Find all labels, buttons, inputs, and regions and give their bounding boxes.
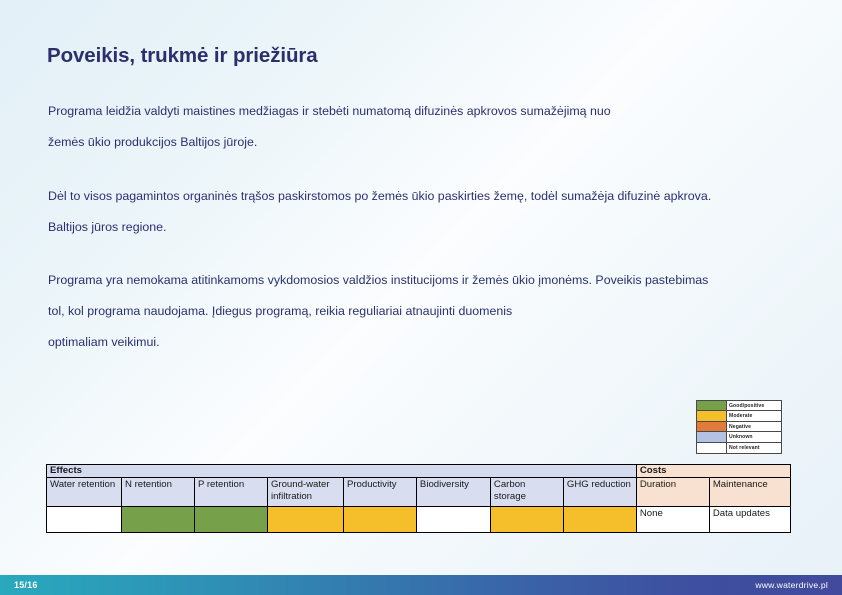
legend-label: Moderate xyxy=(727,411,781,420)
table-cell xyxy=(490,507,563,533)
paragraph-3-line-2: tol, kol programa naudojama. Įdiegus pro… xyxy=(48,296,818,327)
legend-swatch xyxy=(697,401,727,410)
paragraph-3: Programa yra nemokama atitinkamoms vykdo… xyxy=(48,265,818,358)
legend-label: Good/positive xyxy=(727,401,781,410)
legend-row: Good/positive xyxy=(697,401,781,411)
table-column-header: N retention xyxy=(122,478,195,507)
table-column-header: Duration xyxy=(636,478,709,507)
table-group-header: Costs xyxy=(636,465,790,478)
legend-swatch xyxy=(697,432,727,441)
table-cell xyxy=(47,507,122,533)
legend: Good/positiveModerateNegativeUnknownNot … xyxy=(696,400,782,454)
legend-row: Not relevant xyxy=(697,443,781,453)
slide-canvas: Poveikis, trukmė ir priežiūra Programa l… xyxy=(0,0,842,595)
effects-costs-table: EffectsCostsWater retentionN retentionP … xyxy=(46,464,791,533)
page-title: Poveikis, trukmė ir priežiūra xyxy=(47,44,318,68)
legend-label: Not relevant xyxy=(727,443,781,453)
paragraph-1: Programa leidžia valdyti maistines medži… xyxy=(48,96,818,158)
paragraph-2-line-1: Dėl to visos pagamintos organinės trąšos… xyxy=(48,181,818,212)
table-column-header: Productivity xyxy=(343,478,416,507)
page-number: 15/16 xyxy=(14,580,38,590)
table-cell xyxy=(343,507,416,533)
table-header-row: Water retentionN retentionP retentionGro… xyxy=(47,478,791,507)
table-cell xyxy=(122,507,195,533)
legend-swatch xyxy=(697,443,727,453)
table-column-header: Maintenance xyxy=(709,478,790,507)
legend-label: Negative xyxy=(727,422,781,431)
table-column-header: Carbon storage xyxy=(490,478,563,507)
table-group-header: Effects xyxy=(47,465,637,478)
table-cell xyxy=(267,507,343,533)
legend-swatch xyxy=(697,411,727,420)
paragraph-2: Dėl to visos pagamintos organinės trąšos… xyxy=(48,181,818,243)
paragraph-3-line-3: optimaliam veikimui. xyxy=(48,327,818,358)
table-row: NoneData updates xyxy=(47,507,791,533)
legend-row: Negative xyxy=(697,422,781,432)
legend-swatch xyxy=(697,422,727,431)
table-column-header: P retention xyxy=(194,478,267,507)
paragraph-1-line-2: žemės ūkio produkcijos Baltijos jūroje. xyxy=(48,127,818,158)
paragraph-2-line-2: Baltijos jūros regione. xyxy=(48,212,818,243)
paragraph-3-line-1: Programa yra nemokama atitinkamoms vykdo… xyxy=(48,265,818,296)
table-column-header: Water retention xyxy=(47,478,122,507)
table-group-header-row: EffectsCosts xyxy=(47,465,791,478)
table-cell xyxy=(194,507,267,533)
legend-label: Unknown xyxy=(727,432,781,441)
table-cell xyxy=(416,507,490,533)
table-cell xyxy=(563,507,636,533)
legend-row: Unknown xyxy=(697,432,781,442)
table-cell: None xyxy=(636,507,709,533)
table-column-header: GHG reduction xyxy=(563,478,636,507)
table-cell: Data updates xyxy=(709,507,790,533)
table-column-header: Biodiversity xyxy=(416,478,490,507)
footer-bar: 15/16 www.waterdrive.pl xyxy=(0,575,842,595)
paragraph-1-line-1: Programa leidžia valdyti maistines medži… xyxy=(48,96,818,127)
table-column-header: Ground-water infiltration xyxy=(267,478,343,507)
footer-website-link[interactable]: www.waterdrive.pl xyxy=(755,580,828,590)
legend-row: Moderate xyxy=(697,411,781,421)
